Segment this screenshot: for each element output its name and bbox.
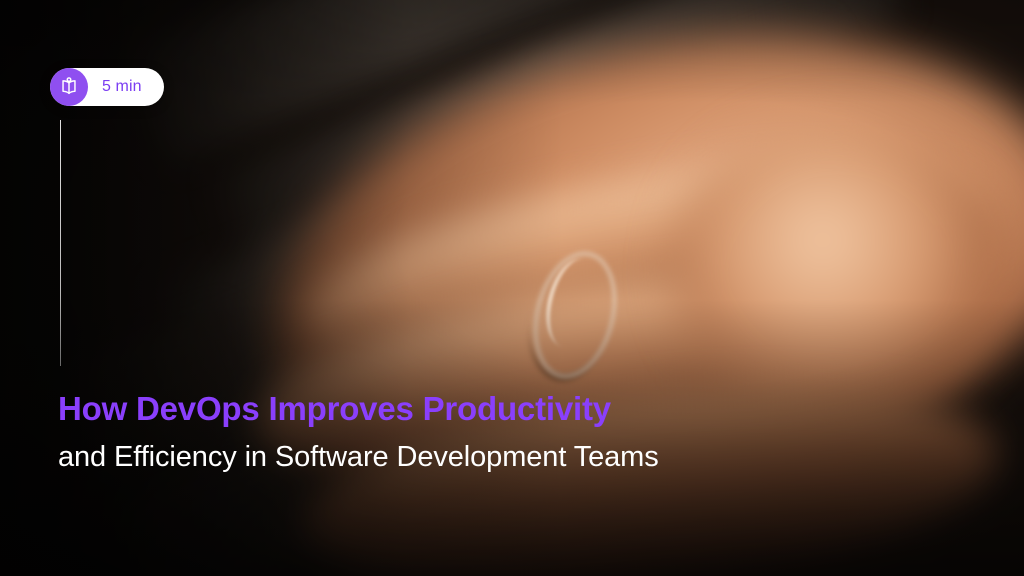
reading-time-badge[interactable]: 5 min — [50, 68, 164, 106]
reading-time-label: 5 min — [102, 78, 142, 96]
headline-primary: How DevOps Improves Productivity — [58, 388, 818, 430]
headline-secondary: and Efficiency in Software Development T… — [58, 436, 818, 479]
vertical-connector-line — [60, 120, 61, 366]
open-book-icon — [50, 68, 88, 106]
headline-block: How DevOps Improves Productivity and Eff… — [58, 388, 818, 479]
article-hero-card: 5 min How DevOps Improves Productivity a… — [0, 0, 1024, 576]
